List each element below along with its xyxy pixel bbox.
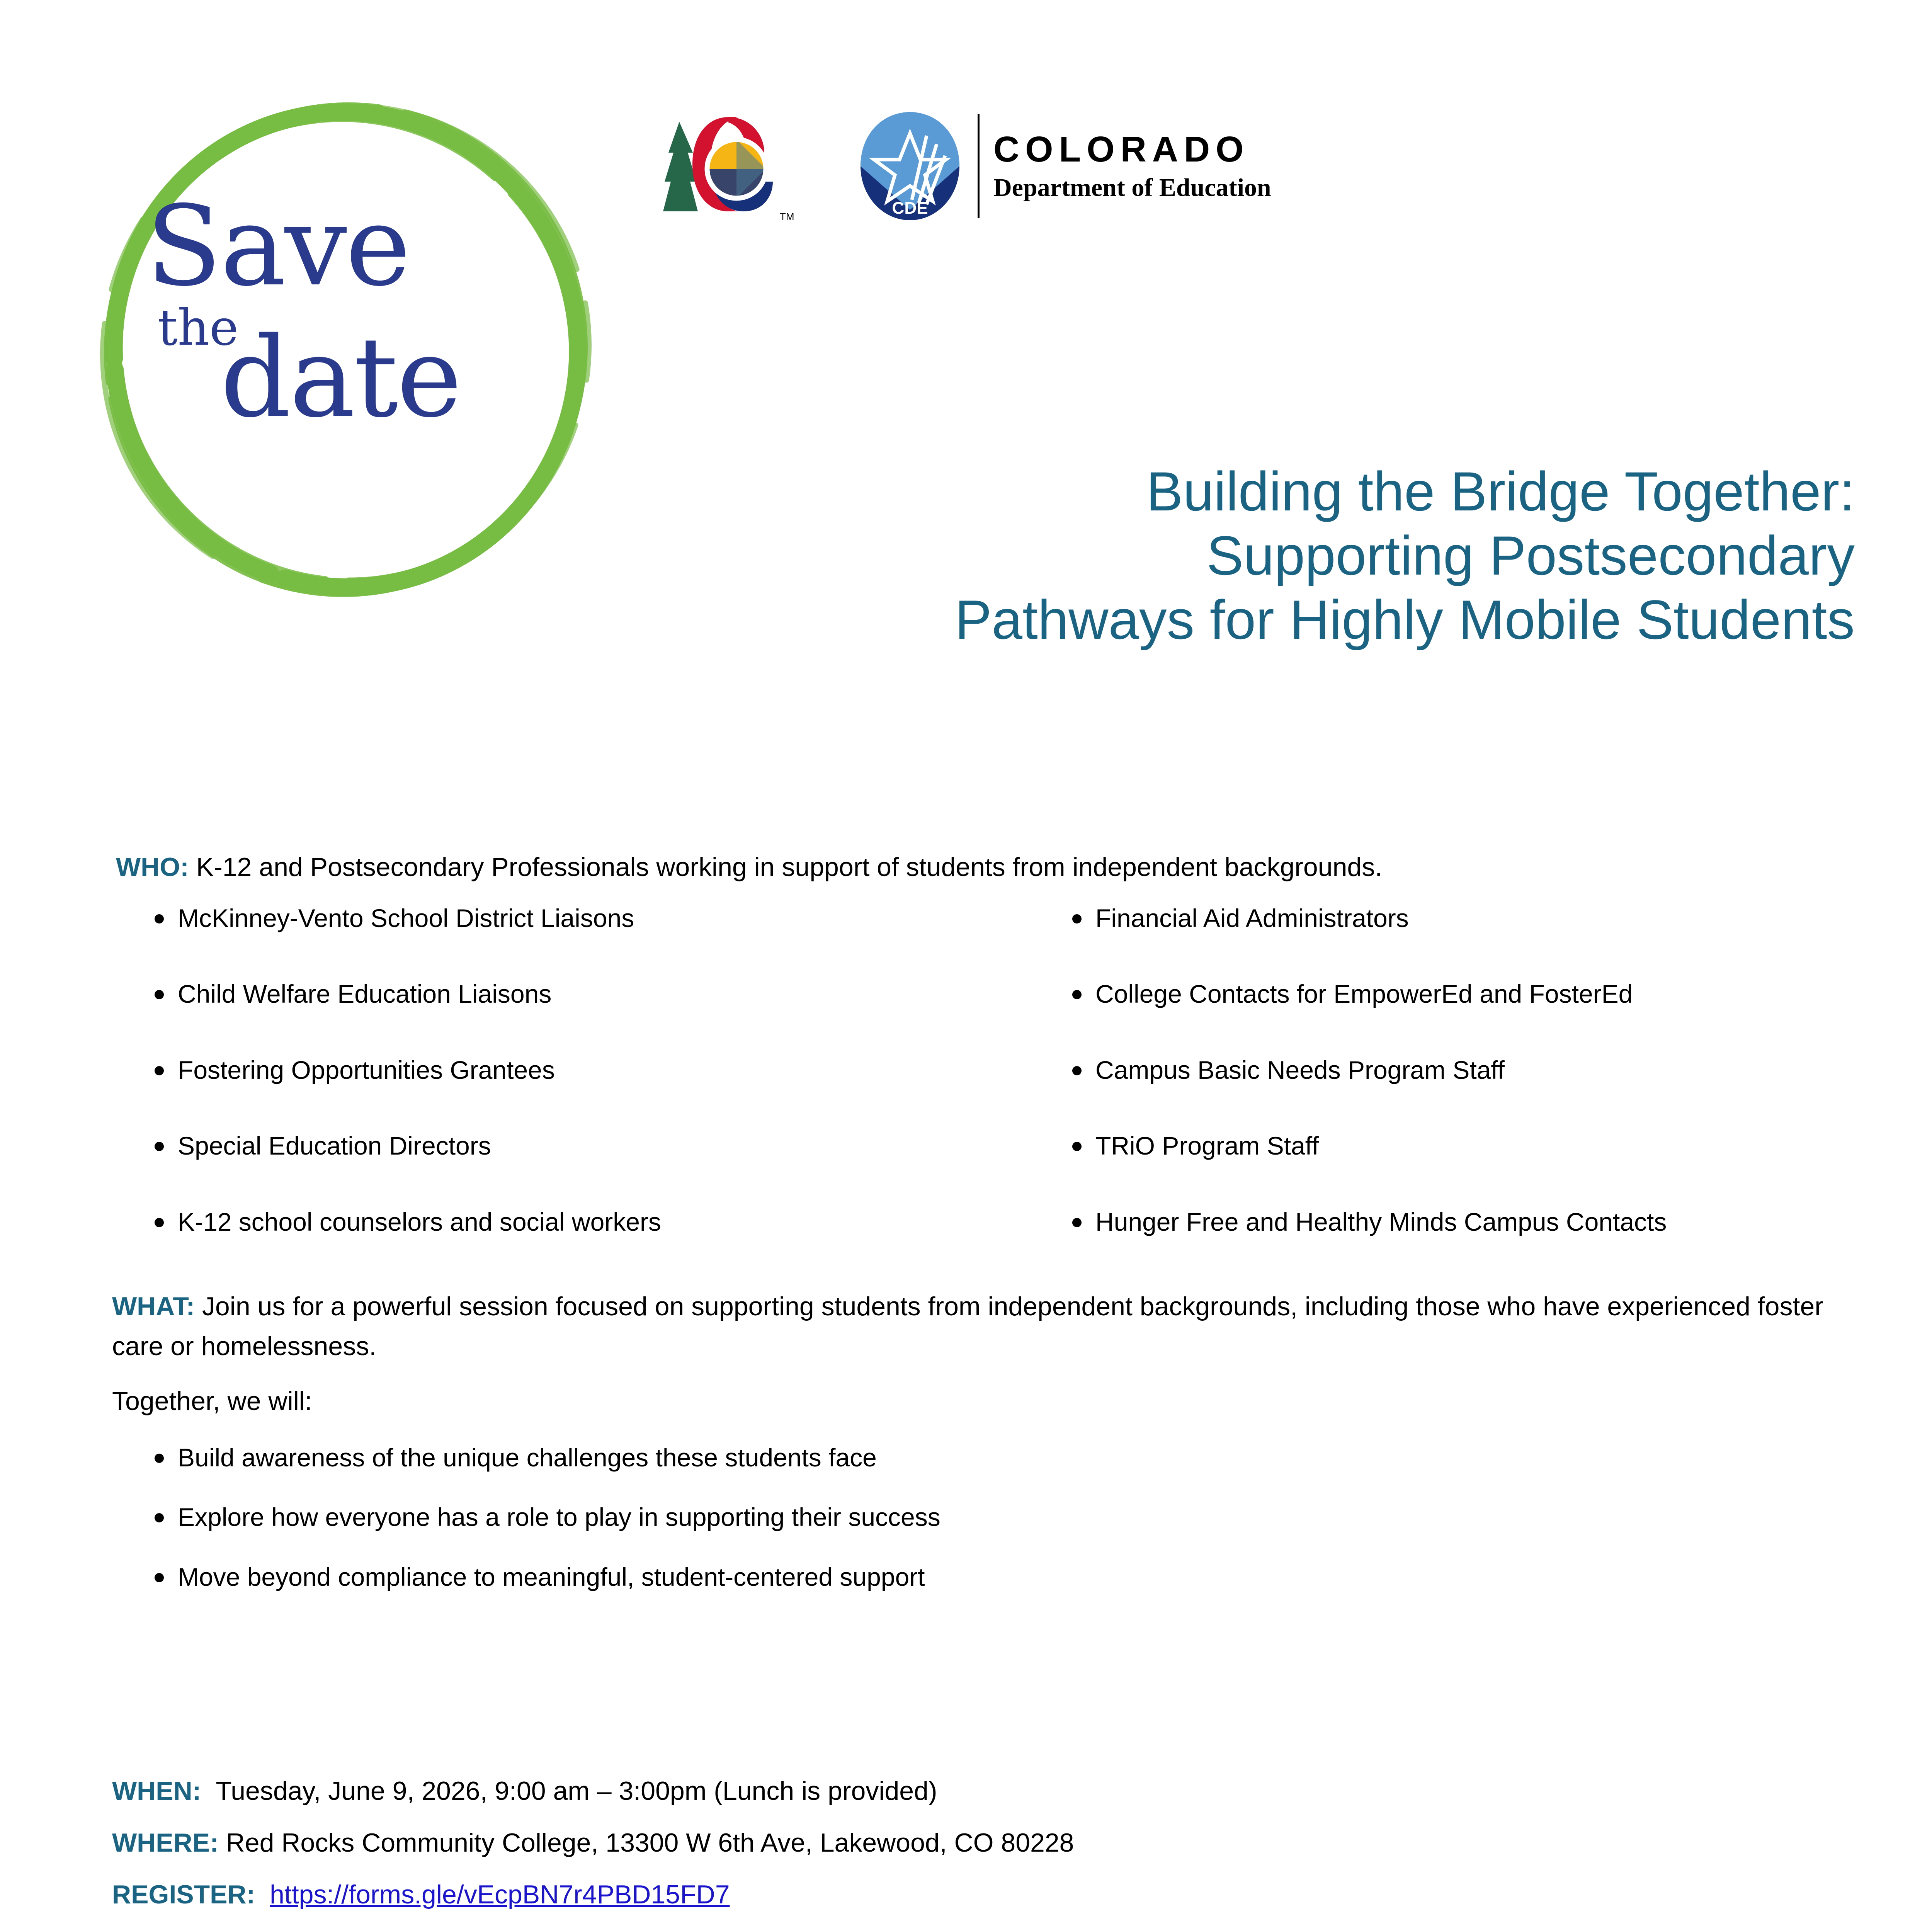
register-line: REGISTER: https://forms.gle/vEcpBN7r4PBD… bbox=[112, 1873, 1859, 1916]
logo-department-text: Department of Education bbox=[993, 174, 1271, 202]
flyer-header: Save the date TM bbox=[0, 0, 1932, 456]
list-item: Financial Aid Administrators bbox=[1036, 900, 1855, 936]
list-item: Explore how everyone has a role to play … bbox=[112, 1499, 1859, 1535]
cde-mark-label: CDE bbox=[892, 199, 928, 218]
cde-logo-marks: TM CDE bbox=[661, 110, 966, 222]
together-intro: Together, we will: bbox=[112, 1381, 1859, 1421]
who-label: WHO: bbox=[116, 852, 189, 882]
list-item: McKinney-Vento School District Liaisons bbox=[116, 900, 1036, 936]
title-line-3: Pathways for Highly Mobile Students bbox=[116, 588, 1855, 652]
when-label: WHEN: bbox=[112, 1776, 201, 1806]
page-title: Building the Bridge Together: Supporting… bbox=[116, 460, 1855, 652]
list-item: College Contacts for EmpowerEd and Foste… bbox=[1036, 976, 1855, 1012]
list-item: Child Welfare Education Liaisons bbox=[116, 976, 1036, 1012]
who-column-left: McKinney-Vento School District Liaisons … bbox=[116, 900, 1036, 1280]
when-line: WHEN: Tuesday, June 9, 2026, 9:00 am – 3… bbox=[112, 1770, 1859, 1812]
register-label: REGISTER: bbox=[112, 1880, 255, 1909]
list-item: Campus Basic Needs Program Staff bbox=[1036, 1052, 1855, 1088]
where-label: WHERE: bbox=[112, 1828, 219, 1857]
event-details: WHEN: Tuesday, June 9, 2026, 9:00 am – 3… bbox=[112, 1770, 1859, 1925]
what-label: WHAT: bbox=[112, 1292, 195, 1321]
when-value: Tuesday, June 9, 2026, 9:00 am – 3:00pm … bbox=[216, 1776, 937, 1806]
svg-text:TM: TM bbox=[780, 211, 794, 222]
list-item: Special Education Directors bbox=[116, 1128, 1036, 1163]
who-intro-text: K-12 and Postsecondary Professionals wor… bbox=[196, 852, 1382, 882]
who-column-right: Financial Aid Administrators College Con… bbox=[1036, 900, 1855, 1280]
what-bullet-list: Build awareness of the unique challenges… bbox=[112, 1440, 1859, 1595]
list-item: Move beyond compliance to meaningful, st… bbox=[112, 1559, 1859, 1595]
cde-logo: TM CDE COLORADO Department of Education bbox=[661, 108, 1271, 224]
where-value: Red Rocks Community College, 13300 W 6th… bbox=[226, 1828, 1074, 1857]
what-paragraph: WHAT: Join us for a powerful session foc… bbox=[112, 1287, 1859, 1367]
who-audience-columns: McKinney-Vento School District Liaisons … bbox=[116, 900, 1855, 1280]
what-paragraph-text: Join us for a powerful session focused o… bbox=[112, 1292, 1823, 1361]
where-line: WHERE: Red Rocks Community College, 1330… bbox=[112, 1821, 1859, 1864]
cde-shield-icon: CDE bbox=[854, 110, 966, 222]
list-item: TRiO Program Staff bbox=[1036, 1128, 1855, 1163]
title-line-1: Building the Bridge Together: bbox=[116, 460, 1855, 524]
list-item: Hunger Free and Healthy Minds Campus Con… bbox=[1036, 1204, 1855, 1240]
who-section-intro: WHO: K-12 and Postsecondary Professional… bbox=[116, 850, 1855, 884]
logo-colorado-text: COLORADO bbox=[993, 131, 1271, 168]
colorado-c-mountain-icon: TM bbox=[661, 110, 854, 222]
what-section: WHAT: Join us for a powerful session foc… bbox=[112, 1287, 1859, 1619]
register-link[interactable]: https://forms.gle/vEcpBN7r4PBD15FD7 bbox=[270, 1880, 730, 1909]
list-item: K-12 school counselors and social worker… bbox=[116, 1204, 1036, 1240]
list-item: Build awareness of the unique challenges… bbox=[112, 1440, 1859, 1475]
list-item: Fostering Opportunities Grantees bbox=[116, 1052, 1036, 1088]
title-line-2: Supporting Postsecondary bbox=[116, 524, 1855, 588]
logo-divider bbox=[978, 114, 980, 218]
